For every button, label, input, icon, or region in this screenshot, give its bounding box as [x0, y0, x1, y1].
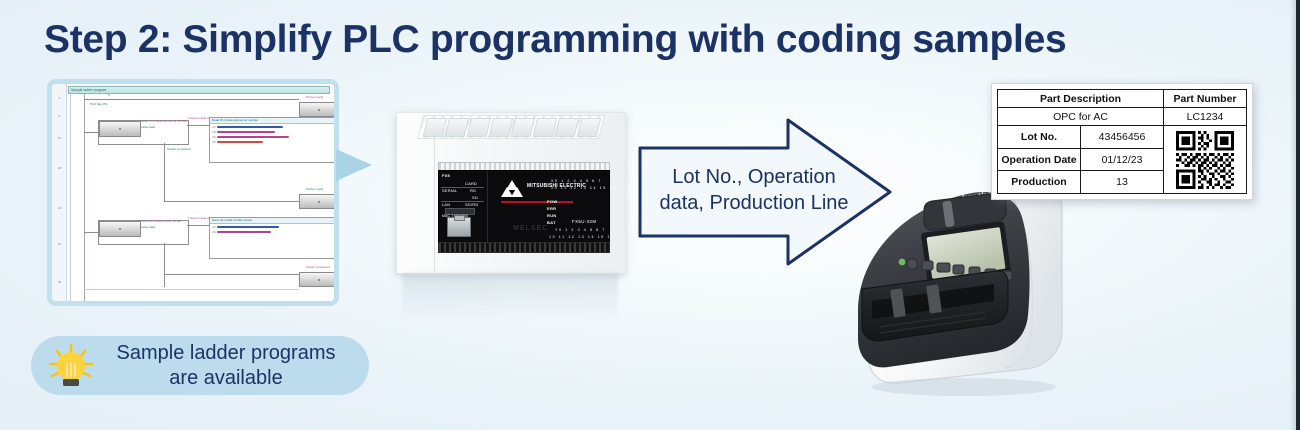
ladder-rung-number: 24: [54, 206, 65, 210]
ladder-coil-label: Output completed: [306, 266, 330, 270]
ladder-code-pane-title: Send print data to label printer: [212, 218, 252, 222]
callout-line-1: Lot No., Operation: [654, 164, 854, 190]
ladder-code-pane[interactable]: Send print data to label printer: [209, 217, 336, 259]
label-row-label-production: Production: [998, 171, 1081, 194]
plc-output-row-bottom: 10 11 12 13 14 15 16 17: [549, 235, 625, 239]
plc-front-panel: FX5 CARD SERIAL RD SD LAN SD/RD MAC 7100…: [438, 170, 610, 244]
ladder-coil-block[interactable]: [299, 102, 338, 117]
slide-right-edge: [1296, 0, 1300, 430]
printer-feed-button: [922, 261, 933, 270]
printer-cut-button: [937, 263, 950, 272]
label-value-part-number: LC1234: [1164, 108, 1247, 126]
ladder-instruction-icon[interactable]: [99, 221, 141, 237]
callout-arrow-text: Lot No., Operation data, Production Line: [654, 164, 854, 216]
printer-power-led-icon: [899, 259, 906, 266]
ladder-block-comment: Label data: [141, 226, 155, 230]
plc-port-label-serial: SERIAL: [442, 188, 457, 193]
label-row-label-operation-date: Operation Date: [998, 148, 1081, 171]
plc-port-label-sdrd: SD/RD: [465, 202, 478, 207]
ladder-comment: Output completed: [167, 148, 191, 152]
plc-output-row-top: Y0 1 2 3 4 5 6 7: [555, 228, 606, 232]
plc-side-code: MELSEC: [513, 225, 548, 232]
plc-led-err: ERR: [547, 206, 556, 211]
lightbulb-icon: [43, 342, 99, 390]
ladder-rung-number: 18: [54, 166, 65, 170]
ladder-power-rail: [84, 94, 85, 301]
label-header-part-number: Part Number: [1164, 90, 1247, 108]
label-row-label-lot-no: Lot No.: [998, 126, 1081, 149]
ladder-wire: [84, 289, 299, 290]
ladder-sub-rail: [70, 94, 71, 301]
table-row: OPC for AC LC1234: [998, 108, 1247, 126]
ladder-block-name: Send print data to label printer: [141, 220, 181, 224]
ladder-rung-number: 38: [54, 280, 65, 284]
ladder-code-pane[interactable]: Read PLC data and set lot number: [209, 117, 336, 163]
ladder-coil-label: Printer ready: [306, 188, 323, 192]
plc-port-label-sd: SD: [472, 195, 478, 200]
plc-body-seam: [434, 138, 435, 272]
label-header-part-description: Part Description: [998, 90, 1164, 108]
ladder-coil-block[interactable]: [299, 194, 338, 209]
ladder-rung-number: 31: [54, 242, 65, 246]
printer-menu-button: [953, 265, 964, 274]
ladder-rung-number: 5: [54, 114, 65, 118]
label-row-value-lot-no: 43456456: [1081, 126, 1164, 149]
plc-lan-port[interactable]: [447, 217, 471, 237]
ladder-rung-number: 0: [54, 96, 65, 100]
plc-led-run: RUN: [547, 213, 557, 218]
plc-led-pow: POW: [547, 199, 557, 204]
table-row: Part Description Part Number: [998, 90, 1247, 108]
table-row: Lot No. 43456456: [998, 126, 1247, 149]
plc-terminal-strip-bottom: [438, 242, 610, 253]
ladder-wire: [187, 125, 209, 126]
ladder-wire: [84, 132, 98, 133]
ladder-coil-block[interactable]: [299, 272, 338, 287]
plc-vent-grille: [417, 115, 605, 139]
plc-model-label: FX5U-32M: [572, 219, 596, 224]
plc-port-label-rd: RD: [470, 188, 476, 193]
ladder-rung-number: 12: [54, 136, 65, 140]
ladder-contact-label: Transmit data set: [188, 217, 211, 221]
qr-code: [1176, 131, 1234, 189]
slide-canvas: Step 2: Simplify PLC programming with co…: [0, 0, 1300, 430]
ladder-code-pane-header: Read PLC data and set lot number: [210, 118, 335, 124]
ladder-wire: [187, 225, 209, 226]
callout-line-2: data, Production Line: [654, 190, 854, 216]
ladder-device-addr: 5: [108, 94, 110, 98]
ladder-contact-label: Transmit data set: [188, 117, 211, 121]
lightbulb-glyph: [43, 342, 99, 390]
badge-line-2: are available: [99, 366, 353, 391]
ladder-code-pane-title: Read PLC data and set lot number: [212, 118, 258, 122]
label-row-value-operation-date: 01/12/23: [1081, 148, 1164, 171]
ladder-wire: [84, 232, 98, 233]
plc-input-row-top: X0 1 2 3 4 5 6 7: [551, 179, 602, 183]
ladder-instruction-icon[interactable]: [99, 121, 141, 137]
plc-series-label: FX5: [442, 173, 450, 178]
ladder-wire: [84, 99, 299, 100]
ladder-block-comment: Label data: [141, 126, 155, 130]
label-value-part-description: OPC for AC: [998, 108, 1164, 126]
printed-label-card: Part Description Part Number OPC for AC …: [991, 83, 1253, 200]
plc-input-row-bottom: 10 11 12 13 14 15 16 17: [551, 186, 627, 190]
ladder-block-name: Read PLC data and set lot number: [141, 120, 187, 124]
ladder-code-pane-header: Send print data to label printer: [210, 218, 335, 224]
plc-led-bat: BAT: [547, 220, 556, 225]
label-row-value-production: 13: [1081, 171, 1164, 194]
plc-device: FX5 CARD SERIAL RD SD LAN SD/RD MAC 7100…: [396, 112, 624, 274]
plc-reflection: [402, 273, 618, 319]
label-qr-cell: [1164, 126, 1247, 194]
sample-programs-badge: Sample ladder programs are available: [31, 336, 369, 395]
mitsubishi-logo-icon: [501, 180, 523, 196]
ladder-wire: [164, 143, 165, 201]
page-title: Step 2: Simplify PLC programming with co…: [44, 18, 1066, 62]
ladder-editor-canvas: 0 5 12 18 24 31 38 Sample ladder program…: [52, 84, 334, 301]
ladder-coil-label: Printer ready: [306, 96, 323, 100]
ladder-window-title: Sample ladder program: [71, 88, 106, 92]
plc-port-panel: FX5 CARD SERIAL RD SD LAN SD/RD MAC 7100…: [439, 171, 488, 243]
ladder-to-plc-arrow: [336, 149, 372, 181]
plc-port-label-lan: LAN: [442, 202, 450, 207]
label-table: Part Description Part Number OPC for AC …: [997, 89, 1247, 194]
ladder-wire: [164, 243, 165, 287]
plc-accent-bar: [501, 201, 573, 203]
ladder-program-panel[interactable]: 0 5 12 18 24 31 38 Sample ladder program…: [47, 79, 339, 306]
plc-port-label-card: CARD: [465, 181, 477, 186]
badge-text: Sample ladder programs are available: [99, 341, 369, 391]
ladder-comment: Print flag ON: [90, 103, 140, 107]
badge-line-1: Sample ladder programs: [99, 341, 353, 366]
printer-power-button: [907, 259, 917, 269]
